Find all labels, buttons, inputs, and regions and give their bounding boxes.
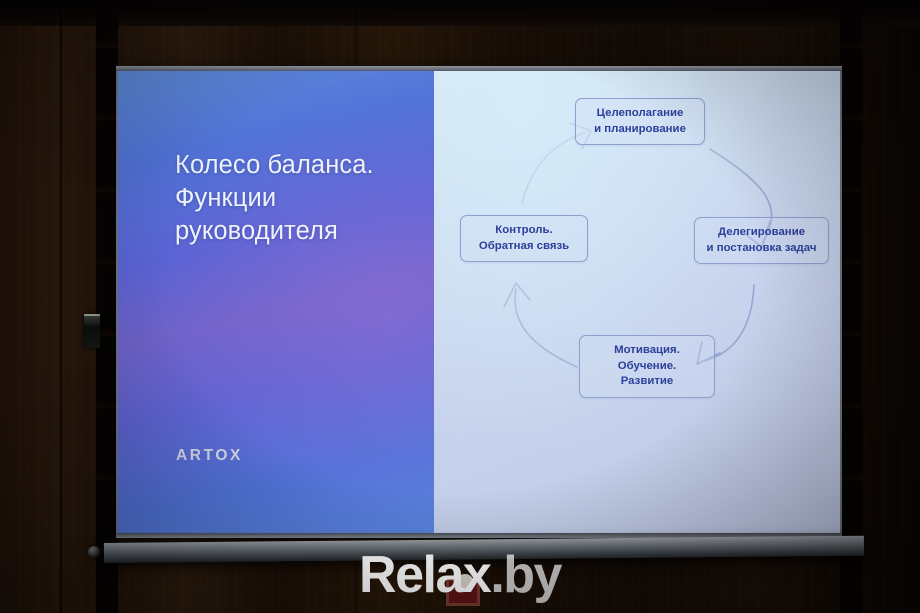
screen-roller-knob[interactable] (88, 546, 100, 558)
wall-switch-icon[interactable] (84, 314, 100, 348)
page-title: Колесо баланса.Функции руководителя (175, 149, 425, 248)
cycle-node-motivation[interactable]: Мотивация.Обучение. Развитие (579, 335, 715, 398)
projection-screen: Колесо баланса.Функции руководителя ARTO… (116, 66, 842, 538)
cycle-node-delegation[interactable]: Делегированиеи постановка задач (694, 217, 829, 264)
wall-panel-seam (60, 0, 63, 613)
cycle-node-control[interactable]: Контроль.Обратная связь (460, 215, 588, 262)
wall-edge-strip-right (840, 0, 862, 613)
cycle-diagram: Целеполаганиеи планирование Делегировани… (434, 71, 840, 533)
background-sign (446, 578, 480, 606)
slide-diagram-panel: Целеполаганиеи планирование Делегировани… (434, 71, 840, 533)
presentation-slide: Колесо баланса.Функции руководителя ARTO… (118, 71, 840, 533)
cycle-node-label: Целеполаганиеи планирование (594, 106, 686, 137)
ceiling-shadow-band (0, 0, 920, 26)
cycle-node-label: Делегированиеи постановка задач (707, 225, 817, 256)
cycle-node-label: Мотивация.Обучение. Развитие (591, 343, 703, 390)
cycle-node-label: Контроль.Обратная связь (479, 223, 569, 254)
wall-edge-strip-left (96, 0, 118, 613)
cycle-node-goal[interactable]: Целеполаганиеи планирование (575, 98, 705, 145)
artox-logo: ARTOX (176, 447, 243, 465)
slide-title-panel: Колесо баланса.Функции руководителя ARTO… (118, 71, 434, 533)
